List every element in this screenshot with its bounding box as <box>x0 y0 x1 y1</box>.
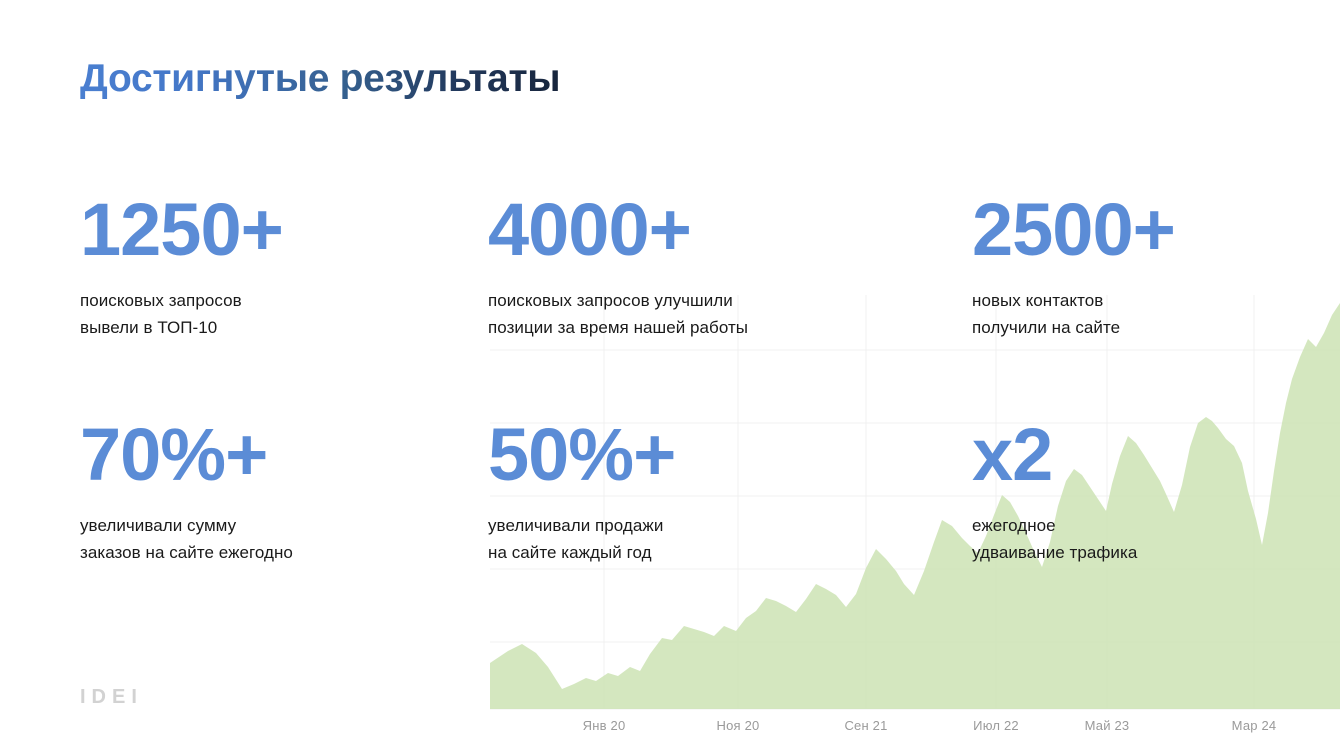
axis-tick-label: Мар 24 <box>1232 718 1277 733</box>
axis-tick-label: Ноя 20 <box>717 718 760 733</box>
stat-caption: увеличивали сумму заказов на сайте ежего… <box>80 512 293 566</box>
page-title: Достигнутые результаты <box>80 57 560 102</box>
axis-tick-label: Июл 22 <box>973 718 1019 733</box>
chart-axis-labels: Янв 20Ноя 20Сен 21Июл 22Май 23Мар 24 <box>490 718 1340 742</box>
stat-caption: новых контактов получили на сайте <box>972 287 1175 341</box>
stat-traffic-doubling: x2 ежегодное удваивание трафика <box>972 418 1137 566</box>
stats-grid: 1250+ поисковых запросов вывели в ТОП-10… <box>0 0 1340 754</box>
stat-sales-growth: 50%+ увеличивали продажи на сайте каждый… <box>488 418 675 566</box>
stat-caption: поисковых запросов вывели в ТОП-10 <box>80 287 283 341</box>
stat-value: 70%+ <box>80 418 293 492</box>
stat-value: 2500+ <box>972 193 1175 267</box>
axis-tick-label: Янв 20 <box>583 718 626 733</box>
stat-caption: увеличивали продажи на сайте каждый год <box>488 512 675 566</box>
axis-tick-label: Май 23 <box>1085 718 1130 733</box>
stat-order-sum-growth: 70%+ увеличивали сумму заказов на сайте … <box>80 418 293 566</box>
stat-caption: ежегодное удваивание трафика <box>972 512 1137 566</box>
stat-value: x2 <box>972 418 1137 492</box>
idei-logo: IDEI <box>80 686 143 709</box>
axis-tick-label: Сен 21 <box>844 718 887 733</box>
stat-caption: поисковых запросов улучшили позиции за в… <box>488 287 748 341</box>
stat-value: 1250+ <box>80 193 283 267</box>
stat-search-queries-top10: 1250+ поисковых запросов вывели в ТОП-10 <box>80 193 283 341</box>
stat-value: 50%+ <box>488 418 675 492</box>
stat-value: 4000+ <box>488 193 748 267</box>
stat-new-contacts: 2500+ новых контактов получили на сайте <box>972 193 1175 341</box>
stat-search-queries-improved: 4000+ поисковых запросов улучшили позици… <box>488 193 748 341</box>
